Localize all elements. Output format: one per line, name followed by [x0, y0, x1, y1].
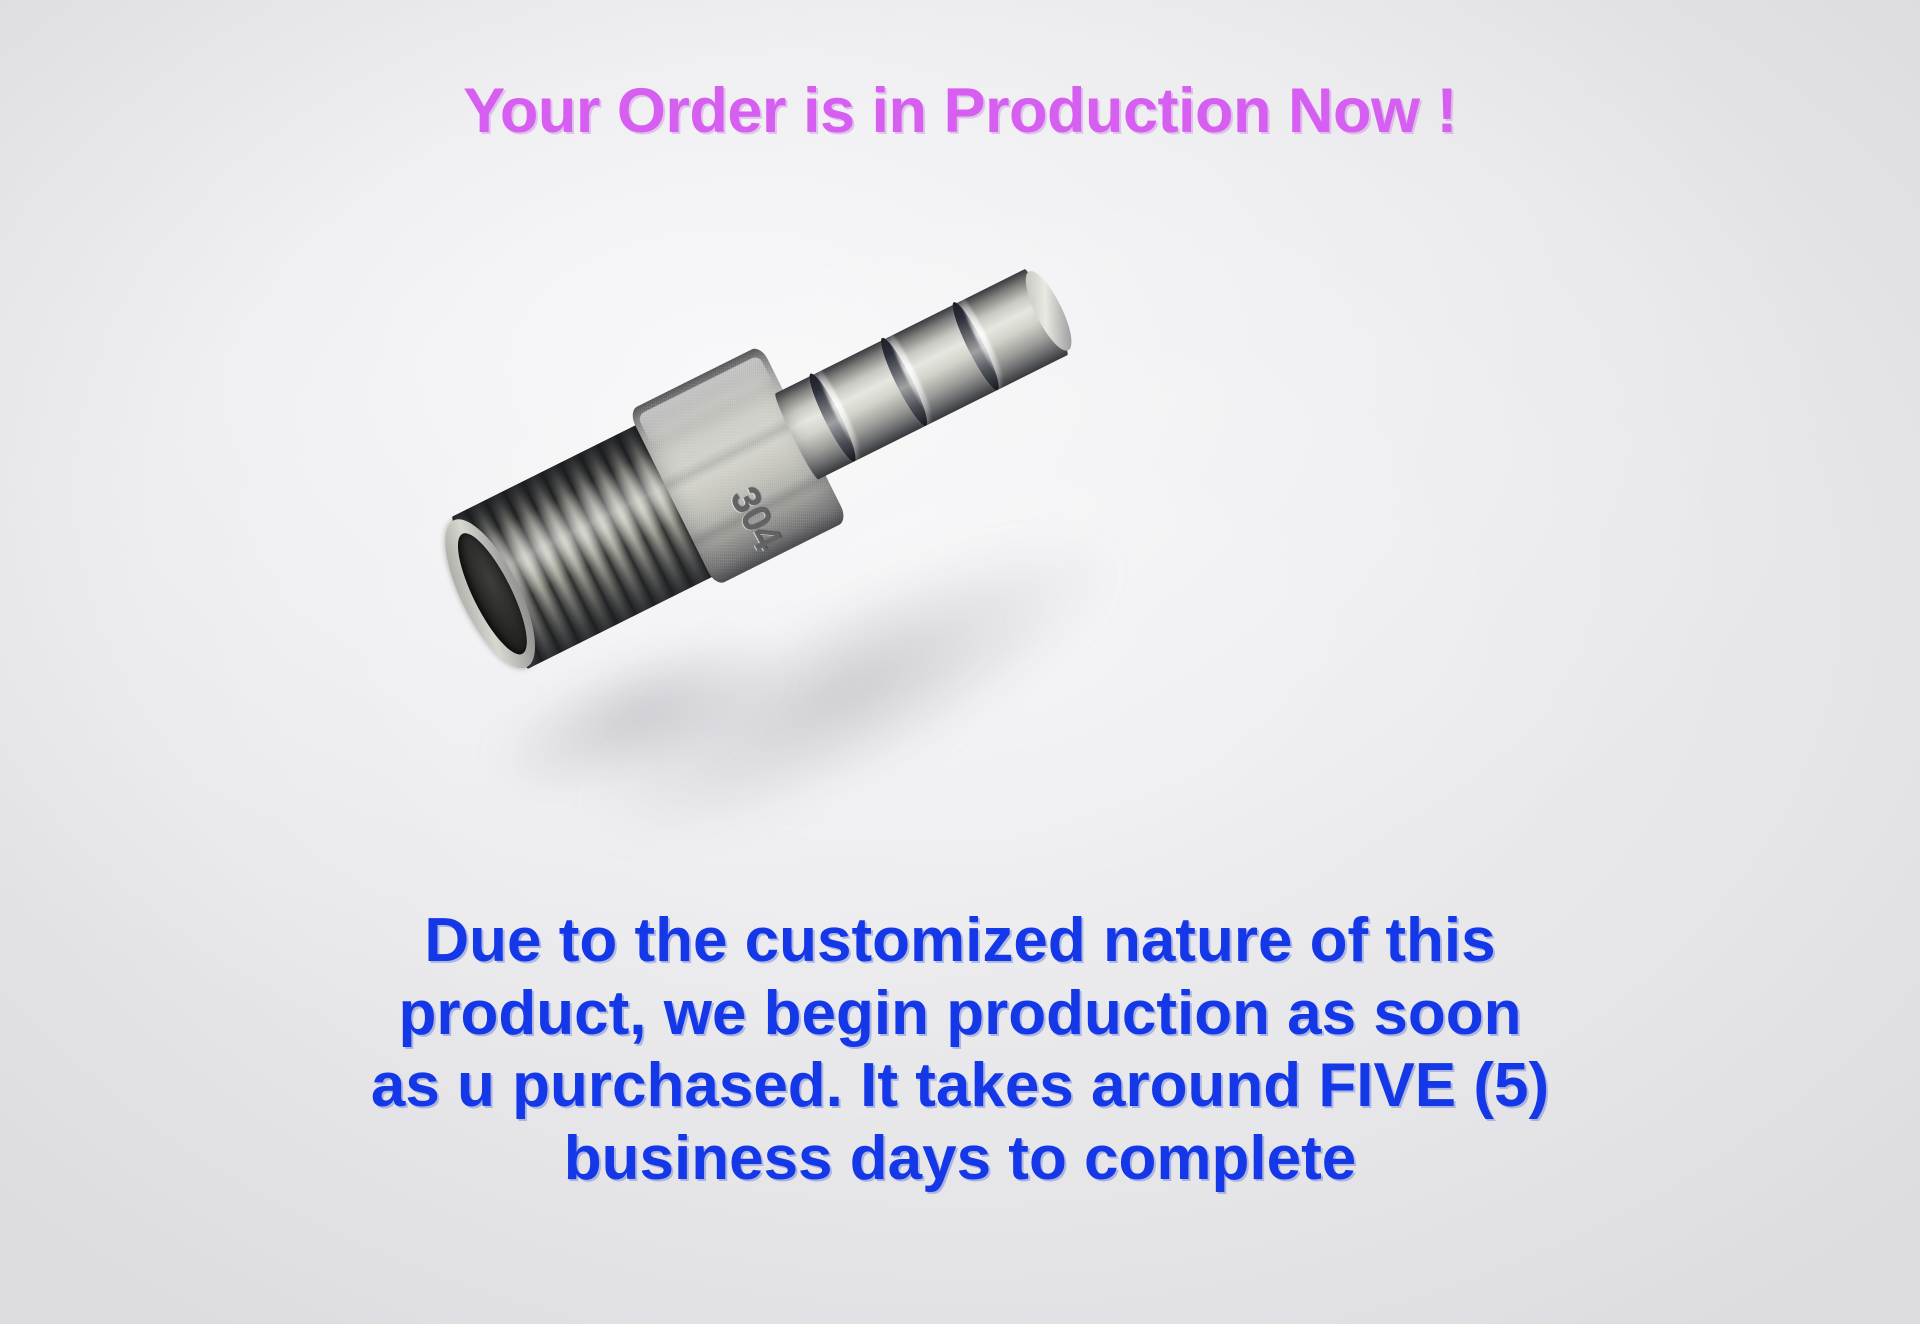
- notice-line-2: product, we begin production as soon: [80, 978, 1840, 1051]
- notice-image: 304 Your Order is in Production Now ! Du…: [0, 0, 1920, 1324]
- notice-text: Due to the customized nature of this pro…: [80, 905, 1840, 1195]
- notice-line-4: business days to complete: [80, 1123, 1840, 1196]
- notice-line-3: as u purchased. It takes around FIVE (5): [80, 1050, 1840, 1123]
- notice-line-1: Due to the customized nature of this: [80, 905, 1840, 978]
- barb-shank: [772, 267, 1071, 481]
- headline-text: Your Order is in Production Now !: [0, 78, 1920, 144]
